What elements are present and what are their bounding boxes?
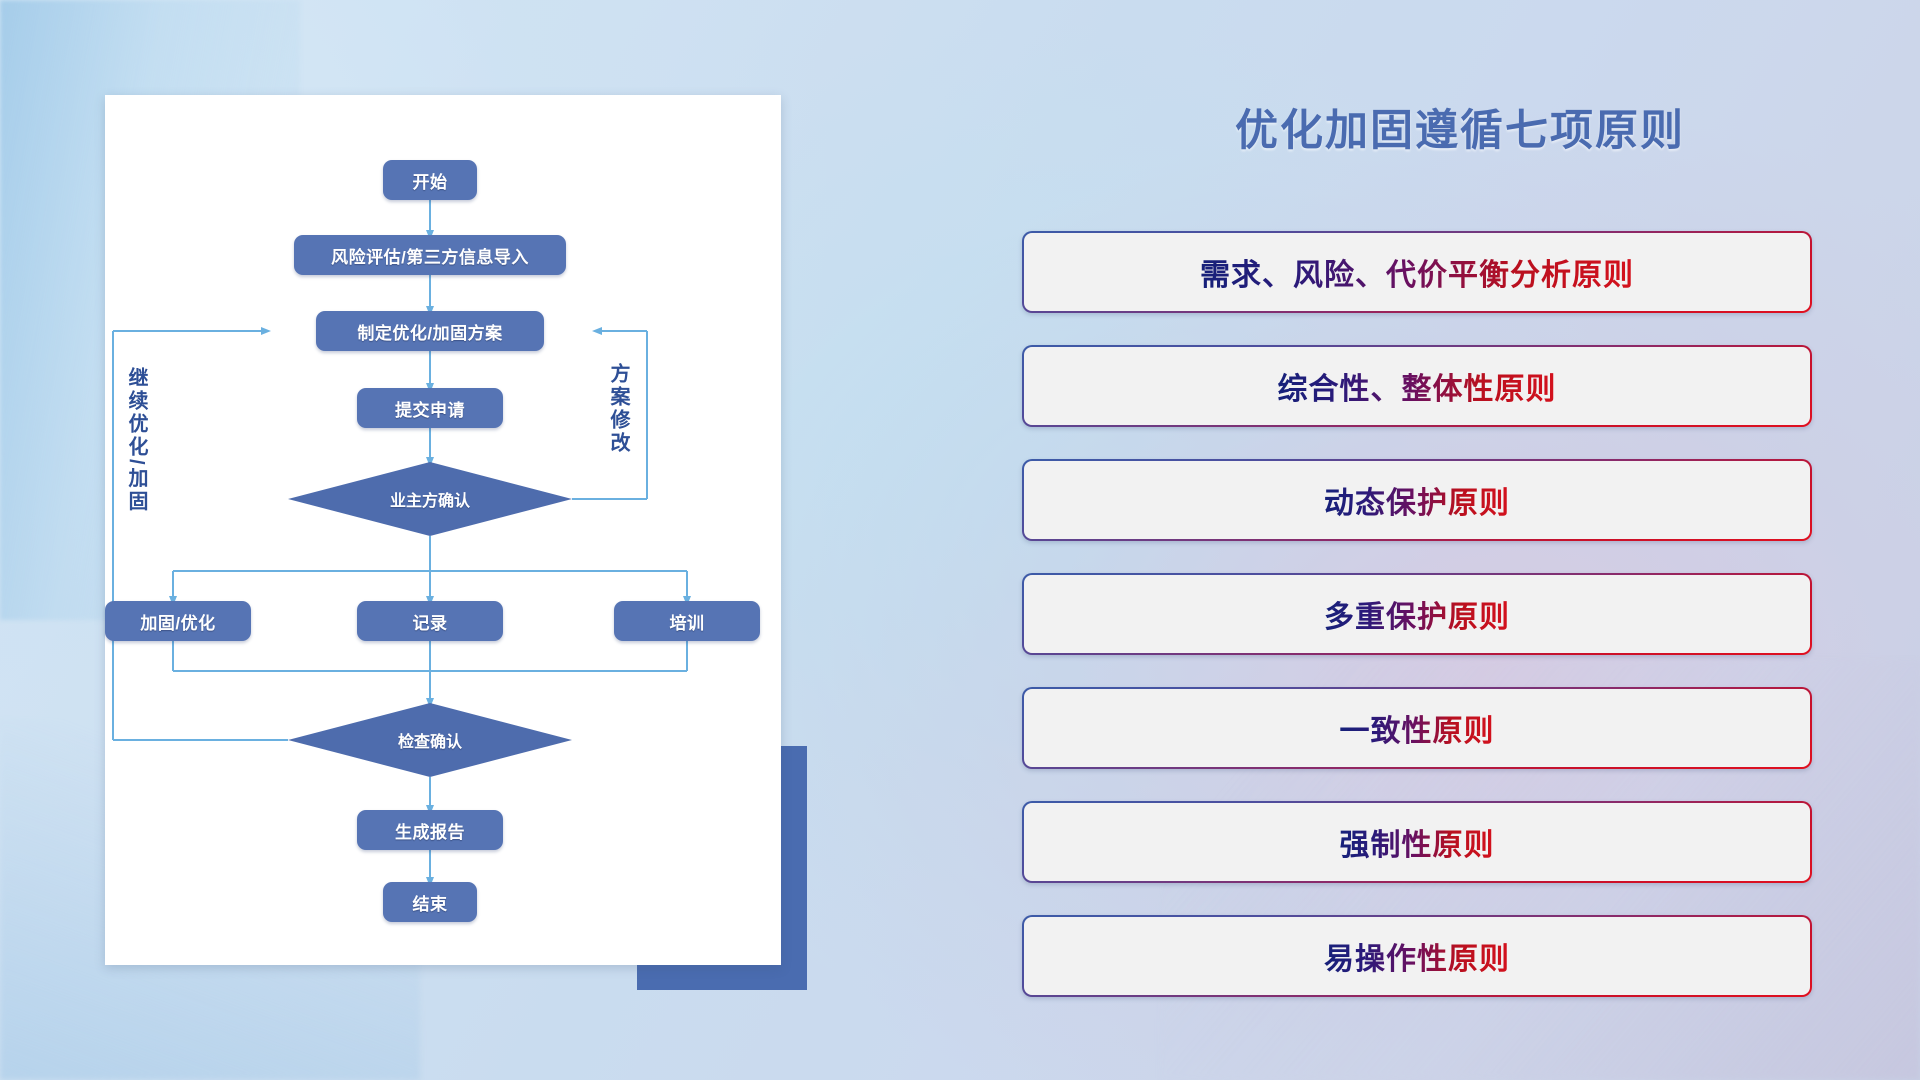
- principle-label: 一致性原则: [1340, 706, 1495, 750]
- principle-label: 需求、风险、代价平衡分析原则: [1200, 250, 1634, 294]
- principle-inner: 需求、风险、代价平衡分析原则: [1024, 233, 1810, 311]
- principle-item[interactable]: 综合性、整体性原则: [1022, 345, 1812, 427]
- principle-label: 易操作性原则: [1324, 934, 1510, 978]
- principle-label: 综合性、整体性原则: [1278, 364, 1557, 408]
- principle-label: 强制性原则: [1340, 820, 1495, 864]
- flow-node-label: 加固/优化: [140, 609, 215, 634]
- flow-node-label: 生成报告: [395, 818, 465, 843]
- principle-inner: 易操作性原则: [1024, 917, 1810, 995]
- flow-node-label: 结束: [413, 890, 448, 915]
- principle-inner: 强制性原则: [1024, 803, 1810, 881]
- flow-node-reinforce[interactable]: 加固/优化: [105, 601, 251, 641]
- principle-inner: 动态保护原则: [1024, 461, 1810, 539]
- flow-node-training[interactable]: 培训: [614, 601, 760, 641]
- principle-item[interactable]: 多重保护原则: [1022, 573, 1812, 655]
- principle-item[interactable]: 动态保护原则: [1022, 459, 1812, 541]
- flow-node-start[interactable]: 开始: [383, 160, 477, 200]
- principle-item[interactable]: 需求、风险、代价平衡分析原则: [1022, 231, 1812, 313]
- principle-item[interactable]: 强制性原则: [1022, 801, 1812, 883]
- flowchart-card: 开始 风险评估/第三方信息导入 制定优化/加固方案 提交申请 业主方确认 加固/…: [105, 95, 781, 965]
- principle-inner: 一致性原则: [1024, 689, 1810, 767]
- principle-label: 动态保护原则: [1324, 478, 1510, 522]
- principles-list: 需求、风险、代价平衡分析原则 综合性、整体性原则 动态保护原则 多重保护原则 一…: [1022, 231, 1812, 1029]
- decision-owner-shape: [288, 462, 572, 536]
- flow-node-plan[interactable]: 制定优化/加固方案: [316, 311, 544, 351]
- flow-node-risk-assessment[interactable]: 风险评估/第三方信息导入: [294, 235, 566, 275]
- flow-node-generate-report[interactable]: 生成报告: [357, 810, 503, 850]
- principle-inner: 多重保护原则: [1024, 575, 1810, 653]
- principle-label: 多重保护原则: [1324, 592, 1510, 636]
- flow-node-label: 记录: [413, 609, 448, 634]
- edge-label-continue-optimize: 继续优化/加固: [125, 367, 146, 514]
- flow-node-label: 开始: [413, 168, 448, 193]
- flow-node-label: 提交申请: [395, 396, 465, 421]
- flow-node-end[interactable]: 结束: [383, 882, 477, 922]
- flow-node-label: 制定优化/加固方案: [357, 319, 502, 344]
- principle-item[interactable]: 易操作性原则: [1022, 915, 1812, 997]
- decision-check-shape: [288, 703, 572, 777]
- edge-label-plan-revision: 方案修改: [607, 363, 628, 455]
- right-panel-title: 优化加固遵循七项原则: [1150, 96, 1770, 158]
- principle-inner: 综合性、整体性原则: [1024, 347, 1810, 425]
- flow-node-label: 风险评估/第三方信息导入: [331, 243, 529, 268]
- flow-node-submit-application[interactable]: 提交申请: [357, 388, 503, 428]
- flow-node-label: 培训: [670, 609, 705, 634]
- flow-node-record[interactable]: 记录: [357, 601, 503, 641]
- principle-item[interactable]: 一致性原则: [1022, 687, 1812, 769]
- flowchart: 开始 风险评估/第三方信息导入 制定优化/加固方案 提交申请 业主方确认 加固/…: [105, 95, 781, 965]
